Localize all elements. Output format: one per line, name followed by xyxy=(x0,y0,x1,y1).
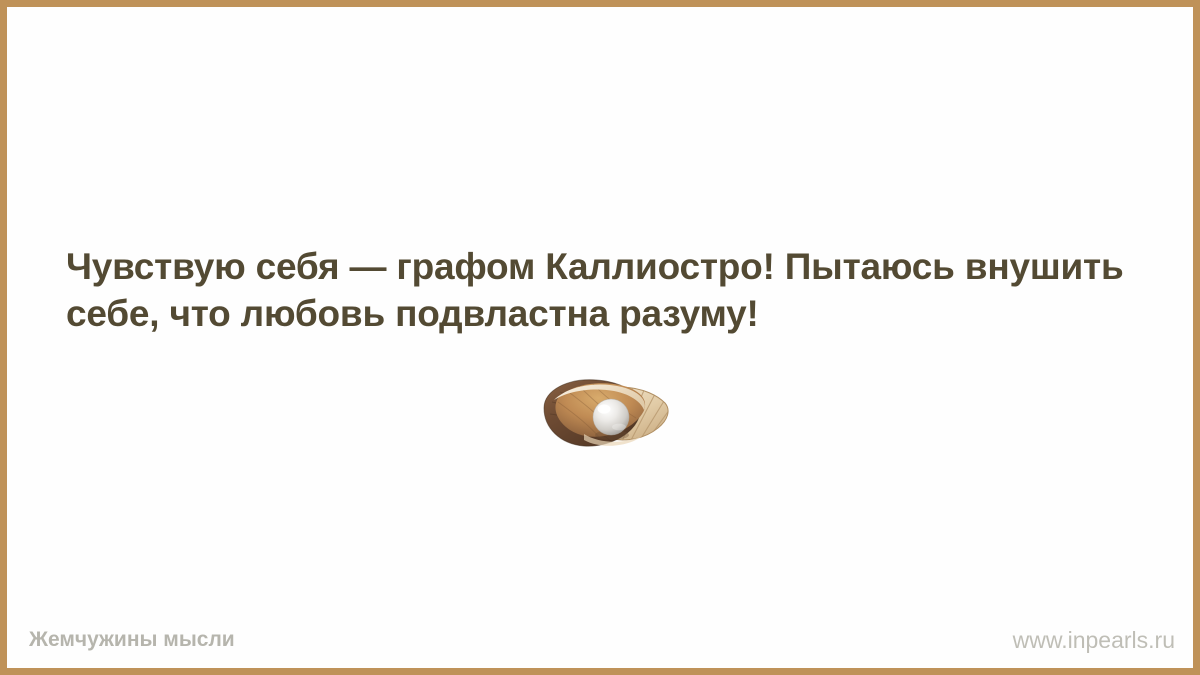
oyster-shell-with-pearl-icon xyxy=(538,372,676,454)
quote-card: Чувствую себя — графом Каллиостро! Пытаю… xyxy=(0,0,1200,675)
oyster-shell-emblem xyxy=(538,372,676,454)
footer-brand: Жемчужины мысли xyxy=(29,627,235,653)
footer-site-url[interactable]: www.inpearls.ru xyxy=(1013,626,1175,654)
quote-text: Чувствую себя — графом Каллиостро! Пытаю… xyxy=(66,243,1142,337)
pearl xyxy=(593,399,629,440)
